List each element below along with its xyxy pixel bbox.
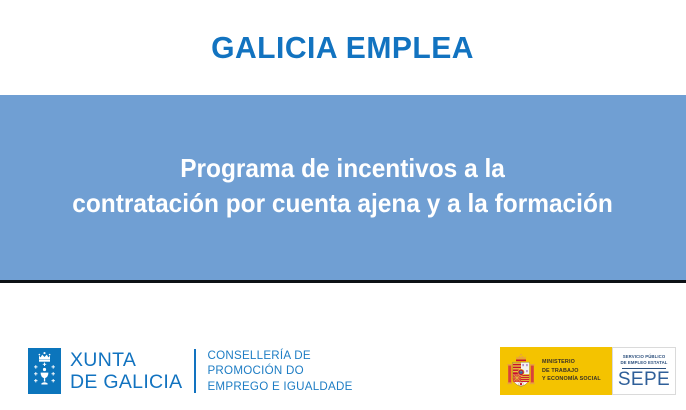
program-banner-line-2: contratación por cuenta ajena y a la for… xyxy=(73,186,614,220)
xunta-wordmark: XUNTA DE GALICIA xyxy=(70,349,182,393)
ministerio-line-3: Y ECONOMÍA SOCIAL xyxy=(542,375,601,383)
conselleria-line-1: CONSELLERÍA DE xyxy=(207,348,352,363)
xunta-coat-of-arms-icon xyxy=(28,348,61,394)
sepe-logo: SERVICIO PÚBLICO DE EMPLEO ESTATAL SEPE xyxy=(612,347,676,395)
ministerio-line-1: MINISTERIO xyxy=(542,358,601,366)
xunta-wordmark-line-2: DE GALICIA xyxy=(70,371,182,393)
conselleria-text: CONSELLERÍA DE PROMOCIÓN DO EMPREGO E IG… xyxy=(207,348,352,394)
government-logos: MINISTERIO DE TRABAJO Y ECONOMÍA SOCIAL … xyxy=(500,347,676,395)
xunta-wordmark-line-1: XUNTA xyxy=(70,349,182,371)
program-banner-line-1: Programa de incentivos a la xyxy=(73,151,614,185)
program-banner-text: Programa de incentivos a la contratación… xyxy=(73,151,614,224)
sepe-acronym: SEPE xyxy=(618,370,670,389)
sepe-full-name: SERVICIO PÚBLICO DE EMPLEO ESTATAL xyxy=(620,354,667,366)
spain-coat-of-arms-icon xyxy=(505,352,537,390)
conselleria-line-2: PROMOCIÓN DO xyxy=(207,363,352,378)
title-area: GALICIA EMPLEA xyxy=(0,0,686,95)
ministerio-line-2: DE TRABAJO xyxy=(542,367,601,375)
program-banner: Programa de incentivos a la contratación… xyxy=(0,95,686,283)
conselleria-line-3: EMPREGO E IGUALDADE xyxy=(207,379,352,394)
sepe-full-name-line-2: DE EMPLEO ESTATAL xyxy=(620,360,667,366)
xunta-de-galicia-logo: XUNTA DE GALICIA CONSELLERÍA DE PROMOCIÓ… xyxy=(28,347,353,395)
ministerio-de-trabajo-logo: MINISTERIO DE TRABAJO Y ECONOMÍA SOCIAL xyxy=(500,347,612,395)
ministerio-wordmark: MINISTERIO DE TRABAJO Y ECONOMÍA SOCIAL xyxy=(542,358,601,383)
page-title: GALICIA EMPLEA xyxy=(212,32,475,63)
logo-divider xyxy=(194,349,196,393)
